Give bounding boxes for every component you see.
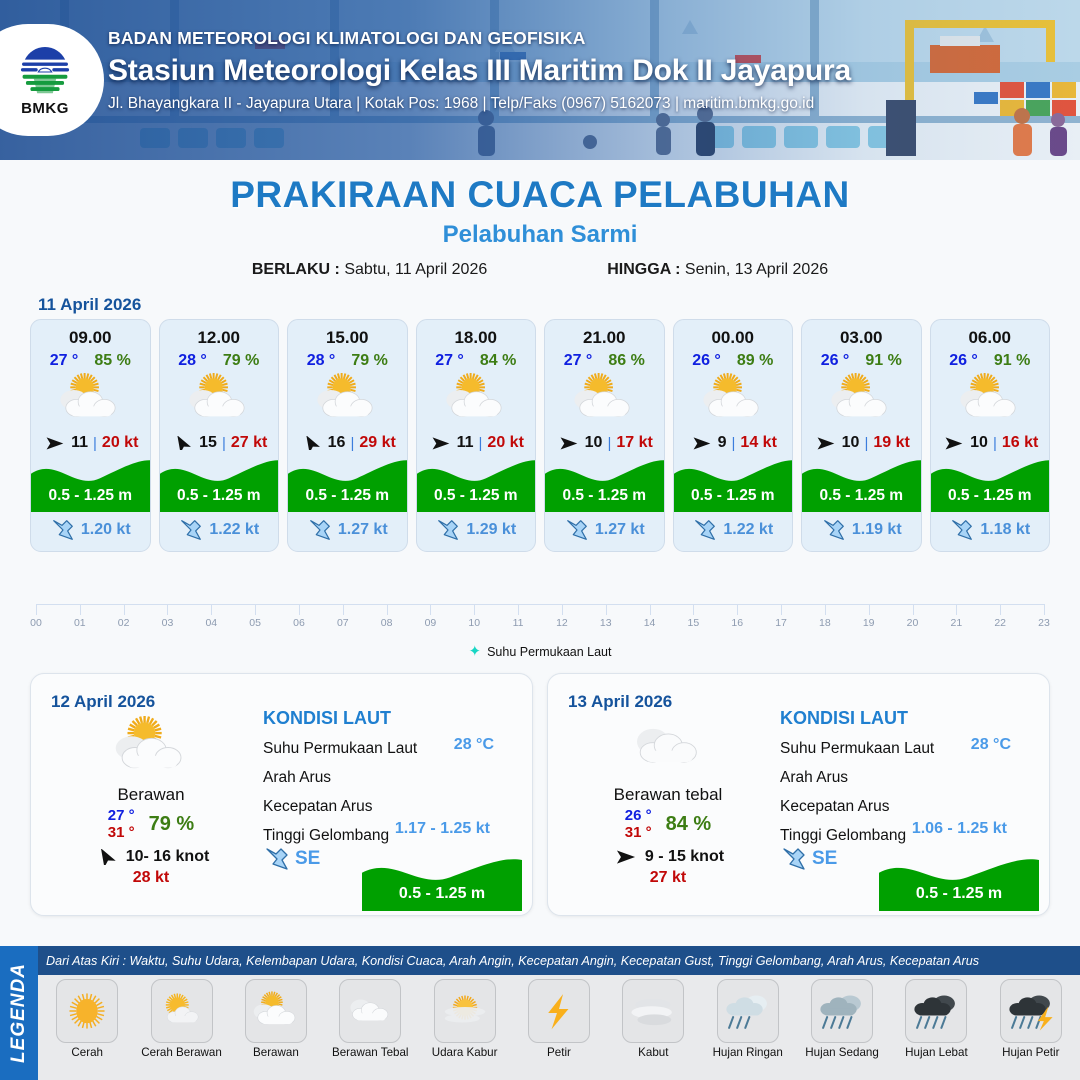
bmkg-logo-icon — [17, 44, 73, 100]
wind-direction-arrow — [42, 436, 66, 451]
axis-tick-label: 10 — [468, 617, 480, 629]
card-wind-speed: 9 — [718, 434, 727, 452]
legend-icon-box — [151, 979, 213, 1043]
card-current-speed: 1.29 kt — [466, 521, 516, 539]
header-text-block: BADAN METEOROLOGI KLIMATOLOGI DAN GEOFIS… — [108, 28, 851, 113]
partly-cloudy-icon — [697, 373, 769, 425]
light-rain-icon — [721, 988, 775, 1034]
card-wave: 0.5 - 1.25 m — [931, 454, 1050, 512]
legend-item: Berawan Tebal — [323, 979, 417, 1059]
legend-item-label: Cerah Berawan — [141, 1046, 222, 1059]
card-gust: 27 kt — [231, 434, 267, 452]
legend-item: Hujan Petir — [984, 979, 1078, 1059]
card-temperature: 27 ° — [435, 352, 464, 370]
daily-condition: Berawan tebal — [568, 785, 768, 805]
card-separator: | — [732, 435, 736, 452]
sea-row-current-speed: Kecepatan Arus — [780, 798, 1033, 816]
legend-item: Cerah Berawan — [134, 979, 228, 1059]
card-wind: 10 | 16 kt — [931, 434, 1050, 452]
card-wave: 0.5 - 1.25 m — [417, 454, 536, 512]
axis-tick — [606, 604, 607, 615]
card-wave-height: 0.5 - 1.25 m — [545, 487, 664, 505]
legend-marker-icon: ✦ — [469, 644, 482, 659]
daily-wave: 0.5 - 1.25 m — [879, 853, 1039, 911]
card-weather-icon — [825, 373, 897, 430]
current-direction-arrow — [780, 845, 808, 873]
valid-from-label: BERLAKU : — [252, 261, 340, 278]
card-wave: 0.5 - 1.25 m — [545, 454, 664, 512]
legend-bar: LEGENDA Dari Atas Kiri : Waktu, Suhu Uda… — [0, 946, 1080, 1080]
hourly-forecast-row: 09.00 27 ° 85 % 11 | 20 kt 0.5 - 1.25 m — [0, 319, 1080, 552]
axis-tick-label: 22 — [994, 617, 1006, 629]
daily-wind: 9 - 15 knot — [568, 848, 768, 866]
sunny-icon — [60, 988, 114, 1034]
card-wind-speed: 10 — [585, 434, 603, 452]
card-wind: 15 | 27 kt — [160, 434, 279, 452]
axis-tick-label: 02 — [118, 617, 130, 629]
hourly-card: 03.00 26 ° 91 % 10 | 19 kt 0.5 - 1.25 m — [801, 319, 922, 552]
current-direction-arrow — [821, 517, 847, 543]
card-weather-icon — [954, 373, 1026, 430]
partly-cloudy-icon — [825, 373, 897, 425]
card-humidity: 91 % — [865, 352, 901, 370]
sea-current-speed-value: 1.17 - 1.25 kt — [395, 820, 490, 838]
legend-item: Kabut — [606, 979, 700, 1059]
card-current: 1.18 kt — [931, 512, 1050, 551]
card-weather-icon — [440, 373, 512, 430]
port-name: Pelabuhan Sarmi — [0, 221, 1080, 249]
card-separator: | — [479, 435, 483, 452]
card-current: 1.22 kt — [160, 512, 279, 551]
axis-tick — [80, 604, 81, 615]
valid-to: HINGGA : Senin, 13 April 2026 — [607, 261, 828, 279]
hourly-date: 11 April 2026 — [38, 295, 1080, 315]
wind-direction-arrow — [299, 436, 323, 451]
page-title: PRAKIRAAN CUACA PELABUHAN — [0, 174, 1080, 216]
legend-note: Dari Atas Kiri : Waktu, Suhu Udara, Kele… — [38, 946, 1080, 975]
current-direction-arrow — [435, 517, 461, 543]
valid-to-label: HINGGA : — [607, 261, 680, 278]
card-weather-icon — [311, 373, 383, 430]
axis-tick-label: 03 — [162, 617, 174, 629]
partly-cloudy-icon — [440, 373, 512, 425]
current-direction-arrow — [307, 517, 333, 543]
valid-from-value: Sabtu, 11 April 2026 — [344, 261, 487, 278]
sea-sst-value: 28 °C — [971, 736, 1011, 754]
sea-current-dir-label: SE — [295, 848, 320, 870]
card-humidity: 85 % — [94, 352, 130, 370]
axis-tick — [781, 604, 782, 615]
daily-wind-speed: 9 - 15 knot — [645, 848, 724, 866]
axis-tick-label: 00 — [30, 617, 42, 629]
axis-tick-label: 12 — [556, 617, 568, 629]
sst-chart: 0001020304050607080910111213141516171819… — [0, 604, 1080, 659]
legend-icon-box — [434, 979, 496, 1043]
legend-icon-box — [339, 979, 401, 1043]
heavy-rain-icon — [909, 988, 963, 1034]
valid-to-value: Senin, 13 April 2026 — [685, 261, 828, 278]
axis-tick — [1044, 604, 1045, 615]
card-wave-height: 0.5 - 1.25 m — [802, 487, 921, 505]
card-time: 12.00 — [197, 328, 240, 348]
axis-tick-label: 04 — [205, 617, 217, 629]
card-wind: 10 | 19 kt — [802, 434, 921, 452]
hourly-card: 12.00 28 ° 79 % 15 | 27 kt 0.5 - 1.25 m — [159, 319, 280, 552]
axis-tick-label: 15 — [688, 617, 700, 629]
axis-tick-label: 21 — [951, 617, 963, 629]
card-time: 00.00 — [711, 328, 754, 348]
daily-condition: Berawan — [51, 785, 251, 805]
legend-item: Udara Kabur — [417, 979, 511, 1059]
legend-icon-box — [811, 979, 873, 1043]
chart-legend: ✦ Suhu Permukaan Laut — [36, 644, 1044, 659]
legend-item-label: Kabut — [638, 1046, 668, 1059]
card-humidity: 84 % — [480, 352, 516, 370]
hourly-card: 00.00 26 ° 89 % 9 | 14 kt 0.5 - 1.25 m — [673, 319, 794, 552]
card-current: 1.22 kt — [674, 512, 793, 551]
card-humidity: 89 % — [737, 352, 773, 370]
card-temp-humidity: 26 ° 91 % — [821, 352, 902, 370]
legend-item-label: Hujan Lebat — [905, 1046, 968, 1059]
card-current: 1.20 kt — [31, 512, 150, 551]
legend-icon-box — [1000, 979, 1062, 1043]
sea-current-speed-value: 1.06 - 1.25 kt — [912, 820, 1007, 838]
card-wind-speed: 15 — [199, 434, 217, 452]
sun-cloud-icon — [155, 988, 209, 1034]
axis-tick — [1000, 604, 1001, 615]
axis-tick-label: 01 — [74, 617, 86, 629]
legend-body: Dari Atas Kiri : Waktu, Suhu Udara, Kele… — [38, 946, 1080, 1080]
card-temperature: 26 ° — [821, 352, 850, 370]
daily-sea-conditions: KONDISI LAUT Suhu Permukaan Laut Arah Ar… — [780, 708, 1033, 873]
daily-temp-min: 26 ° — [625, 807, 652, 824]
card-wind-speed: 10 — [842, 434, 860, 452]
axis-tick — [650, 604, 651, 615]
card-wind-speed: 11 — [457, 434, 474, 452]
sea-current-dir-label: SE — [812, 848, 837, 870]
axis-tick — [913, 604, 914, 615]
axis-tick — [430, 604, 431, 615]
axis-tick-label: 13 — [600, 617, 612, 629]
card-wave: 0.5 - 1.25 m — [31, 454, 150, 512]
card-wind: 11 | 20 kt — [31, 434, 150, 452]
daily-temp-max: 31 ° — [625, 824, 652, 841]
card-current-speed: 1.22 kt — [209, 521, 259, 539]
partly-cloudy-icon — [54, 373, 126, 425]
hourly-card: 21.00 27 ° 86 % 10 | 17 kt 0.5 - 1.25 m — [544, 319, 665, 552]
fog-icon — [626, 988, 680, 1034]
card-temperature: 28 ° — [178, 352, 207, 370]
card-wave-height: 0.5 - 1.25 m — [288, 487, 407, 505]
legend-item: Hujan Sedang — [795, 979, 889, 1059]
partly-cloudy-icon — [568, 373, 640, 425]
card-wind-speed: 11 — [71, 434, 88, 452]
card-current: 1.19 kt — [802, 512, 921, 551]
axis-tick — [737, 604, 738, 615]
card-wave-height: 0.5 - 1.25 m — [417, 487, 536, 505]
bmkg-logo-label: BMKG — [21, 100, 69, 117]
axis-tick-label: 14 — [644, 617, 656, 629]
wind-direction-arrow — [556, 436, 580, 451]
daily-forecast-panel: 13 April 2026 Berawan tebal 26 ° 31 ° 84… — [547, 673, 1050, 916]
daily-gust: 27 kt — [568, 869, 768, 887]
legend-item: Hujan Lebat — [889, 979, 983, 1059]
daily-wave-height: 0.5 - 1.25 m — [879, 885, 1039, 903]
card-separator: | — [607, 435, 611, 452]
axis-tick-label: 18 — [819, 617, 831, 629]
axis-tick — [167, 604, 168, 615]
cloudy-icon — [622, 716, 714, 778]
card-wind-speed: 10 — [970, 434, 988, 452]
daily-temp-max: 31 ° — [108, 824, 135, 841]
daily-humidity: 84 % — [666, 813, 712, 836]
card-temperature: 27 ° — [564, 352, 593, 370]
daily-sea-conditions: KONDISI LAUT Suhu Permukaan Laut Arah Ar… — [263, 708, 516, 873]
axis-tick — [693, 604, 694, 615]
moderate-rain-icon — [815, 988, 869, 1034]
sea-row-current-dir: Arah Arus — [780, 769, 1033, 787]
card-current-speed: 1.19 kt — [852, 521, 902, 539]
axis-tick — [474, 604, 475, 615]
daily-wave: 0.5 - 1.25 m — [362, 853, 522, 911]
card-separator: | — [993, 435, 997, 452]
daily-weather-icon — [51, 716, 251, 783]
agency-name: BADAN METEOROLOGI KLIMATOLOGI DAN GEOFIS… — [108, 28, 851, 49]
axis-tick-label: 06 — [293, 617, 305, 629]
card-current-speed: 1.27 kt — [338, 521, 388, 539]
card-gust: 20 kt — [102, 434, 138, 452]
current-direction-arrow — [949, 517, 975, 543]
hourly-card: 15.00 28 ° 79 % 16 | 29 kt 0.5 - 1.25 m — [287, 319, 408, 552]
card-wave: 0.5 - 1.25 m — [288, 454, 407, 512]
legend-icon-box — [56, 979, 118, 1043]
card-time: 03.00 — [840, 328, 883, 348]
axis-tick — [255, 604, 256, 615]
card-wind: 11 | 20 kt — [417, 434, 536, 452]
card-wave: 0.5 - 1.25 m — [802, 454, 921, 512]
card-weather-icon — [54, 373, 126, 430]
card-gust: 14 kt — [740, 434, 776, 452]
daily-temps: 26 ° 31 ° 84 % — [568, 807, 768, 841]
card-time: 21.00 — [583, 328, 626, 348]
current-direction-arrow — [178, 517, 204, 543]
axis-tick-label: 09 — [425, 617, 437, 629]
daily-temp-min: 27 ° — [108, 807, 135, 824]
current-direction-arrow — [50, 517, 76, 543]
axis-tick — [36, 604, 37, 615]
card-gust: 17 kt — [616, 434, 652, 452]
card-gust: 20 kt — [487, 434, 523, 452]
daily-wind-speed: 10- 16 knot — [126, 848, 210, 866]
legend-item-label: Udara Kabur — [432, 1046, 498, 1059]
card-wave-height: 0.5 - 1.25 m — [160, 487, 279, 505]
wind-direction-arrow — [689, 436, 713, 451]
legend-icon-list: Cerah Cerah Berawan Berawan Berawan Teba… — [38, 975, 1080, 1080]
cloudy-icon — [343, 988, 397, 1034]
card-temp-humidity: 27 ° 86 % — [564, 352, 645, 370]
card-temp-humidity: 27 ° 84 % — [435, 352, 516, 370]
card-current-speed: 1.18 kt — [980, 521, 1030, 539]
axis-tick — [211, 604, 212, 615]
card-separator: | — [864, 435, 868, 452]
card-temperature: 26 ° — [949, 352, 978, 370]
axis-tick — [518, 604, 519, 615]
wind-direction-arrow — [941, 436, 965, 451]
card-wave-height: 0.5 - 1.25 m — [31, 487, 150, 505]
card-temperature: 26 ° — [692, 352, 721, 370]
lightning-icon — [532, 988, 586, 1034]
daily-gust: 28 kt — [51, 869, 251, 887]
card-time: 09.00 — [69, 328, 112, 348]
card-gust: 16 kt — [1002, 434, 1038, 452]
legend-item: Hujan Ringan — [701, 979, 795, 1059]
sea-sst-value: 28 °C — [454, 736, 494, 754]
card-current: 1.29 kt — [417, 512, 536, 551]
legend-item-label: Hujan Sedang — [805, 1046, 879, 1059]
card-gust: 19 kt — [873, 434, 909, 452]
card-time: 06.00 — [968, 328, 1011, 348]
daily-temps: 27 ° 31 ° 79 % — [51, 807, 251, 841]
partly-cloudy-icon — [105, 716, 197, 778]
legend-item-label: Cerah — [71, 1046, 103, 1059]
card-humidity: 91 % — [994, 352, 1030, 370]
card-humidity: 79 % — [223, 352, 259, 370]
card-current-speed: 1.22 kt — [723, 521, 773, 539]
card-temp-humidity: 27 ° 85 % — [50, 352, 131, 370]
card-wind: 9 | 14 kt — [674, 434, 793, 452]
card-current-speed: 1.27 kt — [595, 521, 645, 539]
card-humidity: 79 % — [351, 352, 387, 370]
card-current: 1.27 kt — [288, 512, 407, 551]
daily-forecast-panel: 12 April 2026 Berawan 27 ° 31 ° 79 % 10-… — [30, 673, 533, 916]
axis-tick — [343, 604, 344, 615]
daily-wind: 10- 16 knot — [51, 848, 251, 866]
valid-from: BERLAKU : Sabtu, 11 April 2026 — [252, 261, 487, 279]
current-direction-arrow — [692, 517, 718, 543]
partly-cloudy-icon — [183, 373, 255, 425]
partly-cloudy-icon — [249, 988, 303, 1034]
wind-direction-arrow — [93, 849, 119, 865]
chart-x-axis: 0001020304050607080910111213141516171819… — [36, 604, 1044, 626]
card-weather-icon — [697, 373, 769, 430]
legend-item-label: Berawan Tebal — [332, 1046, 409, 1059]
wind-direction-arrow — [170, 436, 194, 451]
haze-icon — [438, 988, 492, 1034]
legend-item: Petir — [512, 979, 606, 1059]
axis-tick — [562, 604, 563, 615]
legend-item-label: Petir — [547, 1046, 571, 1059]
card-wave: 0.5 - 1.25 m — [674, 454, 793, 512]
axis-tick — [124, 604, 125, 615]
axis-tick-label: 23 — [1038, 617, 1050, 629]
axis-tick-label: 17 — [775, 617, 787, 629]
card-humidity: 86 % — [608, 352, 644, 370]
axis-tick-label: 19 — [863, 617, 875, 629]
daily-forecast-row: 12 April 2026 Berawan 27 ° 31 ° 79 % 10-… — [0, 673, 1080, 916]
daily-humidity: 79 % — [149, 813, 195, 836]
card-weather-icon — [183, 373, 255, 430]
axis-tick — [956, 604, 957, 615]
card-temperature: 28 ° — [307, 352, 336, 370]
sea-row-current-speed: Kecepatan Arus — [263, 798, 516, 816]
card-time: 18.00 — [454, 328, 497, 348]
card-wave-height: 0.5 - 1.25 m — [674, 487, 793, 505]
station-name: Stasiun Meteorologi Kelas III Maritim Do… — [108, 54, 851, 88]
axis-tick — [825, 604, 826, 615]
legend-side-text: LEGENDA — [8, 963, 30, 1063]
axis-line — [36, 604, 1044, 605]
legend-icon-box — [245, 979, 307, 1043]
wind-direction-arrow — [612, 849, 638, 865]
card-temp-humidity: 26 ° 91 % — [949, 352, 1030, 370]
card-wind: 16 | 29 kt — [288, 434, 407, 452]
current-direction-arrow — [263, 845, 291, 873]
card-current-speed: 1.20 kt — [81, 521, 131, 539]
card-wave-height: 0.5 - 1.25 m — [931, 487, 1050, 505]
card-separator: | — [222, 435, 226, 452]
card-temp-humidity: 26 ° 89 % — [692, 352, 773, 370]
daily-summary: Berawan 27 ° 31 ° 79 % 10- 16 knot 28 kt — [51, 716, 251, 887]
wind-direction-arrow — [428, 436, 452, 451]
card-temp-humidity: 28 ° 79 % — [178, 352, 259, 370]
partly-cloudy-icon — [954, 373, 1026, 425]
axis-tick-label: 05 — [249, 617, 261, 629]
thunderstorm-icon — [1004, 988, 1058, 1034]
page-header: BMKG BADAN METEOROLOGI KLIMATOLOGI DAN G… — [0, 0, 1080, 160]
chart-legend-label: Suhu Permukaan Laut — [487, 645, 611, 659]
axis-tick-label: 07 — [337, 617, 349, 629]
card-wind-speed: 16 — [328, 434, 346, 452]
wind-direction-arrow — [813, 436, 837, 451]
hourly-card: 18.00 27 ° 84 % 11 | 20 kt 0.5 - 1.25 m — [416, 319, 537, 552]
axis-tick-label: 16 — [731, 617, 743, 629]
card-time: 15.00 — [326, 328, 369, 348]
card-weather-icon — [568, 373, 640, 430]
title-block: PRAKIRAAN CUACA PELABUHAN Pelabuhan Sarm… — [0, 174, 1080, 279]
daily-weather-icon — [568, 716, 768, 783]
legend-icon-box — [717, 979, 779, 1043]
axis-tick — [387, 604, 388, 615]
validity-row: BERLAKU : Sabtu, 11 April 2026 HINGGA : … — [0, 261, 1080, 279]
card-temp-humidity: 28 ° 79 % — [307, 352, 388, 370]
card-temperature: 27 ° — [50, 352, 79, 370]
card-gust: 29 kt — [359, 434, 395, 452]
card-current: 1.27 kt — [545, 512, 664, 551]
hourly-card: 06.00 26 ° 91 % 10 | 16 kt 0.5 - 1.25 m — [930, 319, 1051, 552]
card-wind: 10 | 17 kt — [545, 434, 664, 452]
legend-item: Cerah — [40, 979, 134, 1059]
daily-wave-height: 0.5 - 1.25 m — [362, 885, 522, 903]
axis-tick-label: 11 — [513, 617, 524, 629]
axis-tick-label: 08 — [381, 617, 393, 629]
axis-tick — [299, 604, 300, 615]
legend-item-label: Berawan — [253, 1046, 299, 1059]
legend-icon-box — [905, 979, 967, 1043]
legend-icon-box — [622, 979, 684, 1043]
sea-conditions-title: KONDISI LAUT — [780, 708, 1033, 729]
axis-tick — [869, 604, 870, 615]
legend-item: Berawan — [229, 979, 323, 1059]
legend-side-label: LEGENDA — [0, 946, 38, 1080]
hourly-card: 09.00 27 ° 85 % 11 | 20 kt 0.5 - 1.25 m — [30, 319, 151, 552]
legend-icon-box — [528, 979, 590, 1043]
axis-tick-label: 20 — [907, 617, 919, 629]
card-wave: 0.5 - 1.25 m — [160, 454, 279, 512]
station-address: Jl. Bhayangkara II - Jayapura Utara | Ko… — [108, 95, 851, 113]
legend-item-label: Hujan Ringan — [713, 1046, 783, 1059]
current-direction-arrow — [564, 517, 590, 543]
card-separator: | — [350, 435, 354, 452]
